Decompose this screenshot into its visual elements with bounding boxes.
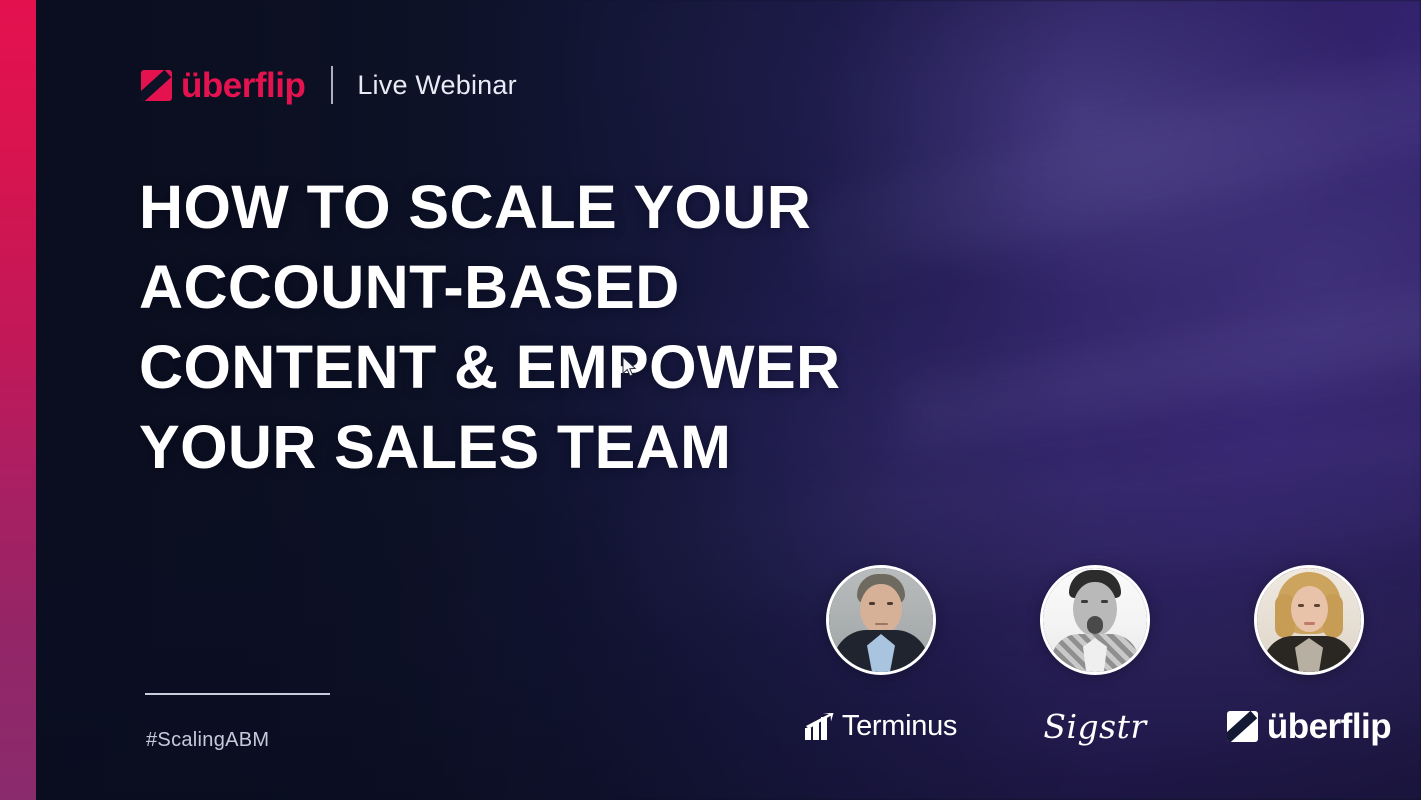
speaker-1: Terminus <box>795 565 967 743</box>
terminus-wordmark: Terminus <box>842 712 957 741</box>
speaker-avatar-1 <box>826 565 936 675</box>
mouse-pointer-icon <box>622 356 638 378</box>
speaker-avatar-2 <box>1040 565 1150 675</box>
accent-stripe <box>0 0 36 800</box>
terminus-logo: Terminus <box>805 709 957 743</box>
uberflip-wordmark-footer: überflip <box>1267 709 1391 744</box>
header-divider <box>331 66 333 104</box>
slide-header: überflip Live Webinar <box>141 62 517 108</box>
uberflip-logo-footer: überflip <box>1227 709 1391 743</box>
uberflip-square-mark-icon <box>1227 711 1258 742</box>
sigstr-wordmark: Sigstr <box>1043 710 1146 743</box>
bar-chart-arrow-icon <box>805 713 835 740</box>
webinar-title-slide: überflip Live Webinar HOW TO SCALE YOUR … <box>0 0 1421 800</box>
speaker-2: Sigstr <box>1009 565 1181 743</box>
speaker-row: Terminus Sigstr <box>795 565 1395 743</box>
title-line-2: ACCOUNT-BASED <box>139 247 1019 327</box>
speaker-avatar-3 <box>1254 565 1364 675</box>
sigstr-logo: Sigstr <box>1043 709 1146 743</box>
uberflip-wordmark: überflip <box>181 68 305 103</box>
title-line-3: CONTENT & EMPOWER <box>139 327 1019 407</box>
uberflip-square-mark-icon <box>141 70 172 101</box>
uberflip-logo: überflip <box>141 68 305 103</box>
header-subtitle: Live Webinar <box>357 70 516 101</box>
page-title: HOW TO SCALE YOUR ACCOUNT-BASED CONTENT … <box>139 167 1019 487</box>
title-line-4: YOUR SALES TEAM <box>139 407 1019 487</box>
hashtag-label: #ScalingABM <box>146 729 269 752</box>
hashtag-divider-rule <box>145 693 330 695</box>
title-line-1: HOW TO SCALE YOUR <box>139 167 1019 247</box>
speaker-3: überflip <box>1223 565 1395 743</box>
